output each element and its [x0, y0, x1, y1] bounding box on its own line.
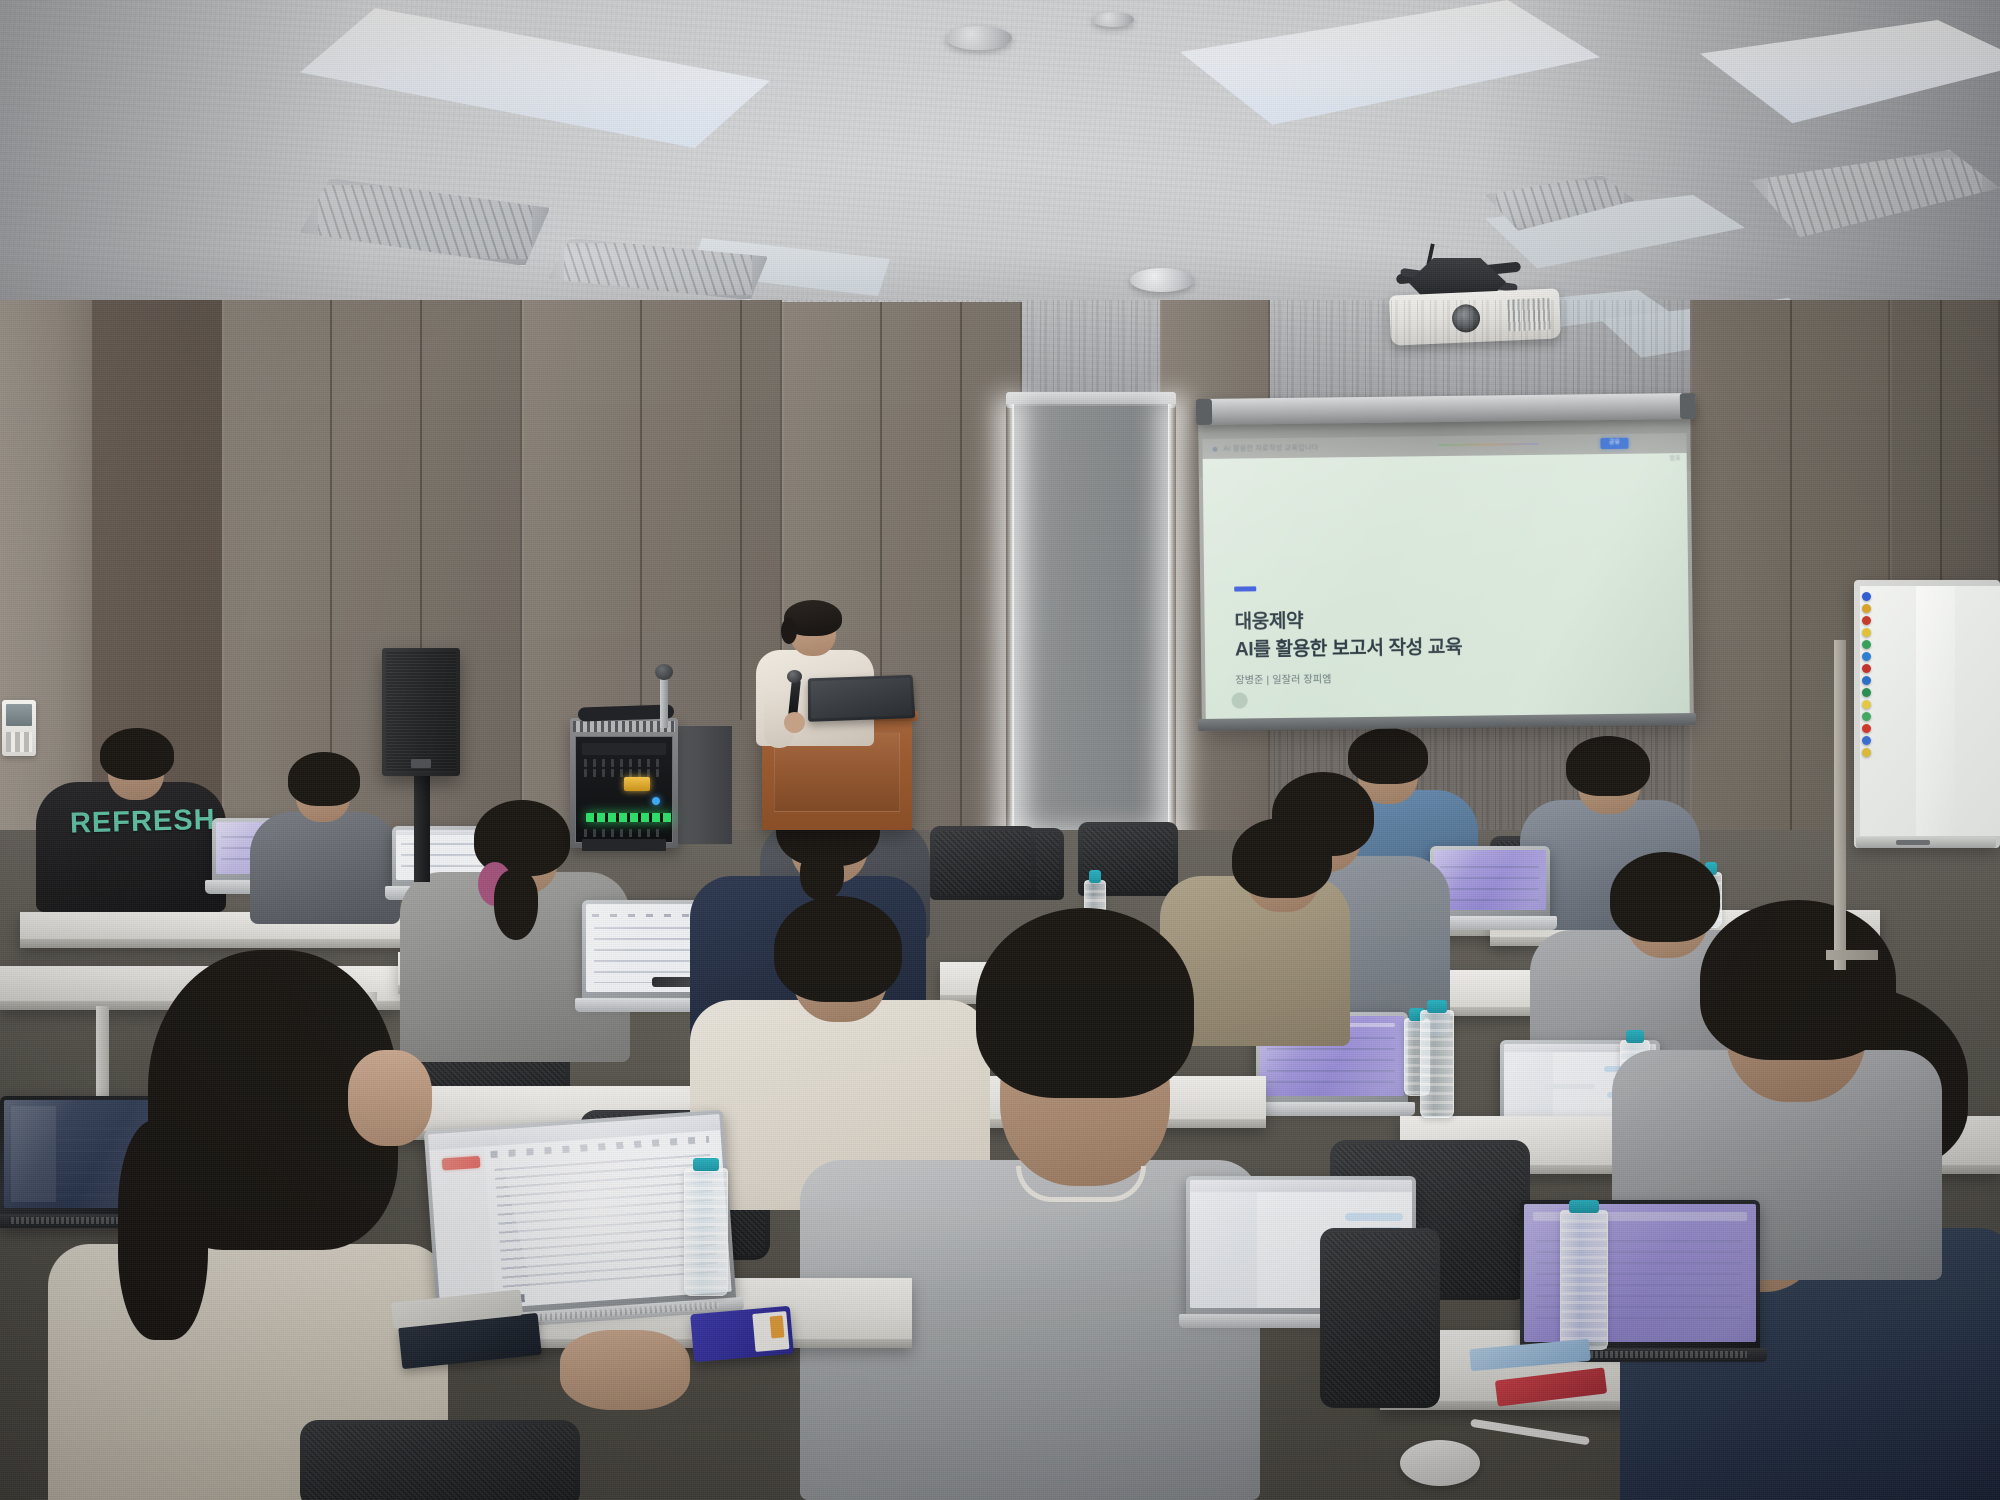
share-button[interactable]: 공유 — [1600, 438, 1628, 449]
water-bottle[interactable] — [684, 1168, 728, 1296]
speaker-brand-logo — [411, 759, 431, 768]
laptop-back-right[interactable] — [1520, 1200, 1760, 1350]
ponytail — [494, 870, 538, 940]
whiteboard-stand-leg — [1834, 640, 1846, 970]
slide-title-line1: 대웅제약 — [1234, 606, 1303, 634]
chair[interactable] — [930, 826, 1036, 900]
attendee-hair — [1610, 852, 1720, 942]
attendee-hair — [288, 752, 360, 806]
attendee-hair — [1566, 736, 1650, 796]
power-adapter[interactable] — [1400, 1440, 1480, 1486]
hair-bun — [800, 848, 844, 900]
thermostat-display — [6, 704, 32, 726]
slide-subtitle: 장병준 | 일잘러 장피엠 — [1235, 670, 1332, 686]
smoke-detector-icon — [1092, 12, 1134, 27]
chair[interactable] — [1320, 1228, 1440, 1408]
projection-screen: AI 활용한 자료작성 교육입니다 공유 발표 대웅제약 AI를 활용한 보고서… — [1198, 411, 1694, 727]
snack-box[interactable] — [690, 1306, 794, 1363]
smoke-detector-icon — [1130, 268, 1194, 292]
window-light-leak — [1006, 404, 1014, 844]
slide-title-line2: AI를 활용한 보고서 작성 교육 — [1235, 632, 1463, 662]
jbl-speaker — [382, 648, 460, 776]
whiteboard-glare — [1916, 586, 1955, 836]
attendee-hand — [560, 1330, 690, 1410]
microphone-icon — [655, 664, 673, 680]
window-blind[interactable] — [1012, 404, 1170, 844]
attendee-hair — [1232, 818, 1332, 898]
av-cabinet-side — [678, 726, 732, 844]
attendee-torso — [250, 812, 400, 924]
speaker-grille — [386, 652, 456, 772]
window-light-leak — [1168, 404, 1176, 844]
attendee-torso — [36, 782, 226, 912]
av-equipment-rack[interactable] — [570, 718, 678, 848]
slide-accent-bar — [1234, 586, 1256, 591]
attendee-hair — [100, 728, 174, 780]
whiteboard-stand-foot — [1826, 950, 1878, 960]
classroom-photo: AI 활용한 자료작성 교육입니다 공유 발표 대웅제약 AI를 활용한 보고서… — [0, 0, 2000, 1500]
browser-accent-rule — [1438, 443, 1538, 446]
rack-glass-door[interactable] — [575, 736, 673, 843]
browser-title: AI 활용한 자료작성 교육입니다 — [1223, 443, 1318, 454]
chair[interactable] — [300, 1420, 580, 1500]
microphone-stand — [660, 676, 668, 728]
water-bottle[interactable] — [1420, 1010, 1454, 1118]
slide-logo-icon — [1231, 692, 1247, 708]
attendee-hair — [976, 908, 1194, 1098]
rack-level-meter — [586, 813, 672, 822]
presentation-slide: AI 활용한 자료작성 교육입니다 공유 발표 대웅제약 AI를 활용한 보고서… — [1203, 453, 1690, 721]
lanyard — [1016, 1166, 1146, 1202]
whiteboard-marker[interactable] — [1896, 840, 1930, 845]
attendee-hair — [1700, 900, 1896, 1060]
whiteboard-marker-tray — [1856, 837, 1996, 848]
share-button-label: 공유 — [1600, 438, 1628, 449]
thermostat-buttons[interactable] — [6, 732, 32, 752]
present-button-label: 발표 — [1670, 453, 1681, 462]
water-bottle[interactable] — [1560, 1210, 1608, 1350]
rack-status-display — [624, 777, 650, 791]
presenter-laptop-lid — [811, 678, 912, 719]
wall-panel — [222, 300, 522, 860]
wall-control-panel[interactable] — [2, 700, 36, 756]
whiteboard-magnets[interactable] — [1862, 592, 1872, 760]
presenter-hand — [784, 712, 805, 733]
attendee-hand — [348, 1050, 432, 1146]
browser-dot-icon — [1212, 446, 1217, 451]
presenter-laptop[interactable] — [808, 675, 915, 722]
rack-power-led — [652, 797, 660, 805]
smoke-detector-icon — [946, 26, 1012, 50]
whiteboard — [1854, 580, 2000, 848]
hoodie-text: REFRESH — [70, 804, 191, 841]
attendee-hair — [118, 1120, 208, 1340]
microphone-head-icon — [787, 670, 802, 683]
whiteboard-surface — [1860, 586, 2000, 836]
presenter-hair — [781, 618, 797, 644]
attendee-hair — [774, 896, 902, 1002]
attendee-hair — [1348, 728, 1428, 784]
speaker-stand — [414, 772, 430, 882]
